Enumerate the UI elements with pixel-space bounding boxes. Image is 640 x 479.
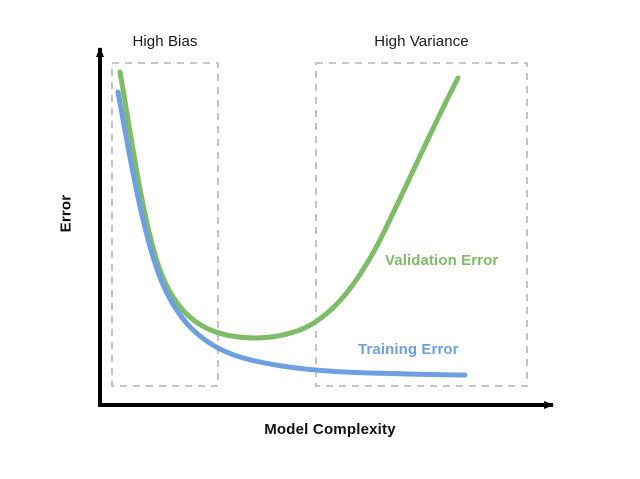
region-label-high-variance: High Variance [316, 33, 527, 50]
y-axis-label: Error [58, 184, 75, 244]
series-label-training-error: Training Error [358, 341, 459, 358]
x-axis-label: Model Complexity [130, 421, 530, 438]
figure-canvas: High Bias High Variance Validation Error… [0, 0, 640, 479]
series-label-validation-error: Validation Error [385, 252, 498, 269]
region-label-high-bias: High Bias [112, 33, 218, 50]
region-box-high-variance [316, 63, 527, 386]
chart-svg [0, 0, 640, 479]
